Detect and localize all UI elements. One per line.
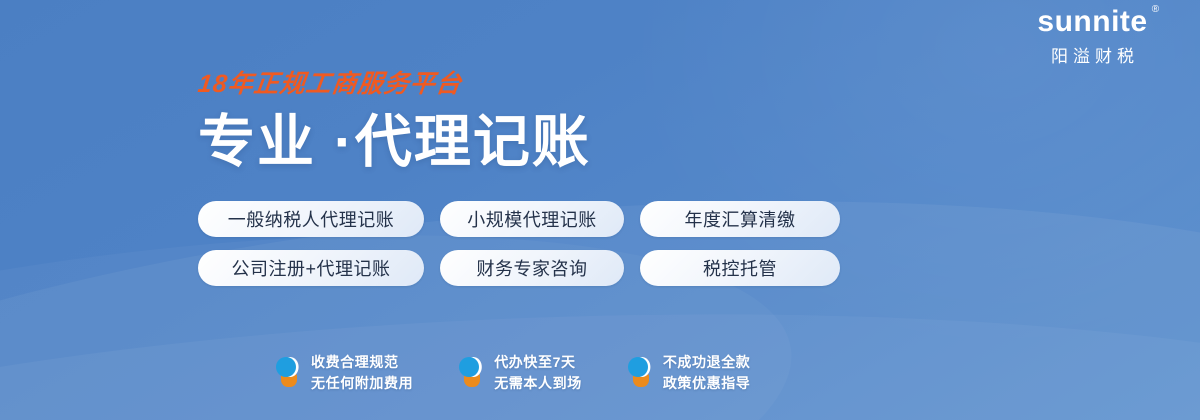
feature-strip: 收费合理规范 无任何附加费用 代办快至7天 无需本人到场 不成功退全款 (276, 352, 750, 393)
feature-text-speed: 代办快至7天 无需本人到场 (494, 352, 582, 393)
feature-line-2: 政策优惠指导 (663, 373, 751, 394)
service-tag-row-2: 公司注册+代理记账 财务专家咨询 税控托管 (198, 250, 938, 286)
service-tag-company-registration[interactable]: 公司注册+代理记账 (198, 250, 424, 286)
brand-wordmark: sunnite® (1037, 6, 1147, 38)
brand-logo[interactable]: sunnite® 阳溢财税 (1005, 6, 1180, 67)
feature-line-2: 无任何附加费用 (311, 373, 413, 394)
hero-eyebrow: 18年正规工商服务平台 (196, 72, 463, 97)
feature-line-1: 收费合理规范 (311, 352, 413, 373)
feature-item-guarantee: 不成功退全款 政策优惠指导 (628, 352, 751, 393)
registered-trademark-icon: ® (1152, 5, 1160, 16)
service-tag-tax-control-custody[interactable]: 税控托管 (640, 250, 840, 286)
ball-cup-icon (628, 354, 654, 387)
service-tag-annual-settlement[interactable]: 年度汇算清缴 (640, 201, 840, 237)
feature-text-pricing: 收费合理规范 无任何附加费用 (311, 352, 413, 393)
service-tag-general-taxpayer[interactable]: 一般纳税人代理记账 (198, 201, 424, 237)
ball-cup-icon-sphere (628, 357, 648, 377)
ball-cup-icon (276, 354, 302, 387)
service-tag-list: 一般纳税人代理记账 小规模代理记账 年度汇算清缴 公司注册+代理记账 财务专家咨… (198, 201, 938, 299)
feature-item-pricing: 收费合理规范 无任何附加费用 (276, 352, 413, 393)
ball-cup-icon (459, 354, 485, 387)
ball-cup-icon-sphere (276, 357, 296, 377)
service-tag-expert-consulting[interactable]: 财务专家咨询 (440, 250, 624, 286)
feature-line-2: 无需本人到场 (494, 373, 582, 394)
service-tag-row-1: 一般纳税人代理记账 小规模代理记账 年度汇算清缴 (198, 201, 938, 237)
feature-line-1: 代办快至7天 (494, 352, 582, 373)
background-swoosh-lower (0, 278, 1200, 420)
feature-text-guarantee: 不成功退全款 政策优惠指导 (663, 352, 751, 393)
hero-copy: 18年正规工商服务平台 专业 ·代理记账 (198, 72, 958, 173)
hero-headline: 专业 ·代理记账 (198, 113, 958, 173)
service-tag-small-scale[interactable]: 小规模代理记账 (440, 201, 624, 237)
brand-name-cn: 阳溢财税 (1005, 42, 1180, 67)
feature-item-speed: 代办快至7天 无需本人到场 (459, 352, 582, 393)
feature-line-1: 不成功退全款 (663, 352, 751, 373)
promo-banner: sunnite® 阳溢财税 18年正规工商服务平台 专业 ·代理记账 一般纳税人… (0, 0, 1200, 420)
